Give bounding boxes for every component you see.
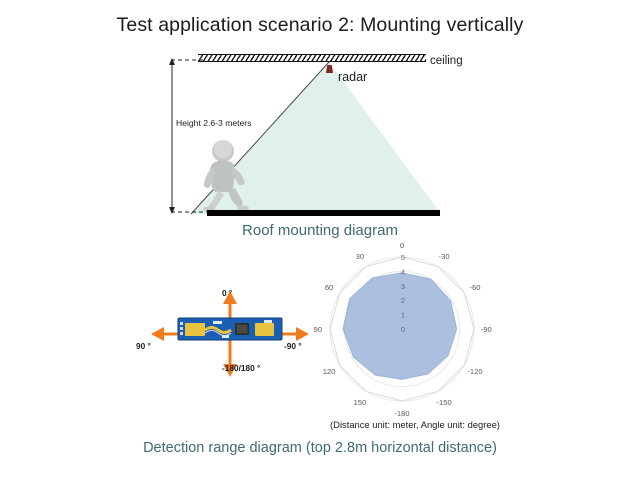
- orientation-label-180deg: -180/180 °: [222, 363, 260, 373]
- detection-range-caption: Detection range diagram (top 2.8m horizo…: [0, 440, 640, 456]
- svg-text:-120: -120: [467, 367, 482, 376]
- page-title: Test application scenario 2: Mounting ve…: [0, 14, 640, 37]
- orientation-label-90deg: 90 °: [136, 341, 151, 351]
- svg-text:-30: -30: [439, 252, 450, 261]
- svg-text:-90: -90: [481, 325, 492, 334]
- svg-text:0: 0: [401, 325, 405, 334]
- svg-text:2: 2: [401, 296, 405, 305]
- svg-text:90: 90: [314, 325, 322, 334]
- svg-text:-180: -180: [394, 409, 409, 418]
- svg-text:1: 1: [401, 311, 405, 320]
- orientation-label-minus90deg: -90 °: [284, 341, 302, 351]
- svg-text:60: 60: [325, 283, 333, 292]
- orientation-label-0deg: 0 °: [222, 288, 232, 298]
- svg-text:0: 0: [400, 241, 404, 250]
- svg-text:4: 4: [401, 267, 405, 276]
- svg-text:5: 5: [401, 253, 405, 262]
- ceiling-label: ceiling: [430, 55, 463, 67]
- svg-text:3: 3: [401, 282, 405, 291]
- svg-text:120: 120: [323, 367, 336, 376]
- slide-canvas: Test application scenario 2: Mounting ve…: [0, 0, 640, 480]
- radar-pcb-board: [178, 318, 282, 340]
- roof-diagram-caption: Roof mounting diagram: [0, 222, 640, 239]
- polar-chart-note: (Distance unit: meter, Angle unit: degre…: [300, 419, 530, 430]
- height-label: Height 2.6-3 meters: [176, 118, 251, 128]
- svg-text:-150: -150: [437, 398, 452, 407]
- svg-text:-60: -60: [469, 283, 480, 292]
- radar-label: radar: [338, 70, 367, 84]
- polar-detection-chart: 0123450-30-60-90-120-150-180150120906030: [302, 243, 530, 419]
- floor-bar: [207, 210, 440, 216]
- svg-text:150: 150: [354, 398, 367, 407]
- svg-text:30: 30: [356, 252, 364, 261]
- walking-person-figure: [198, 140, 254, 212]
